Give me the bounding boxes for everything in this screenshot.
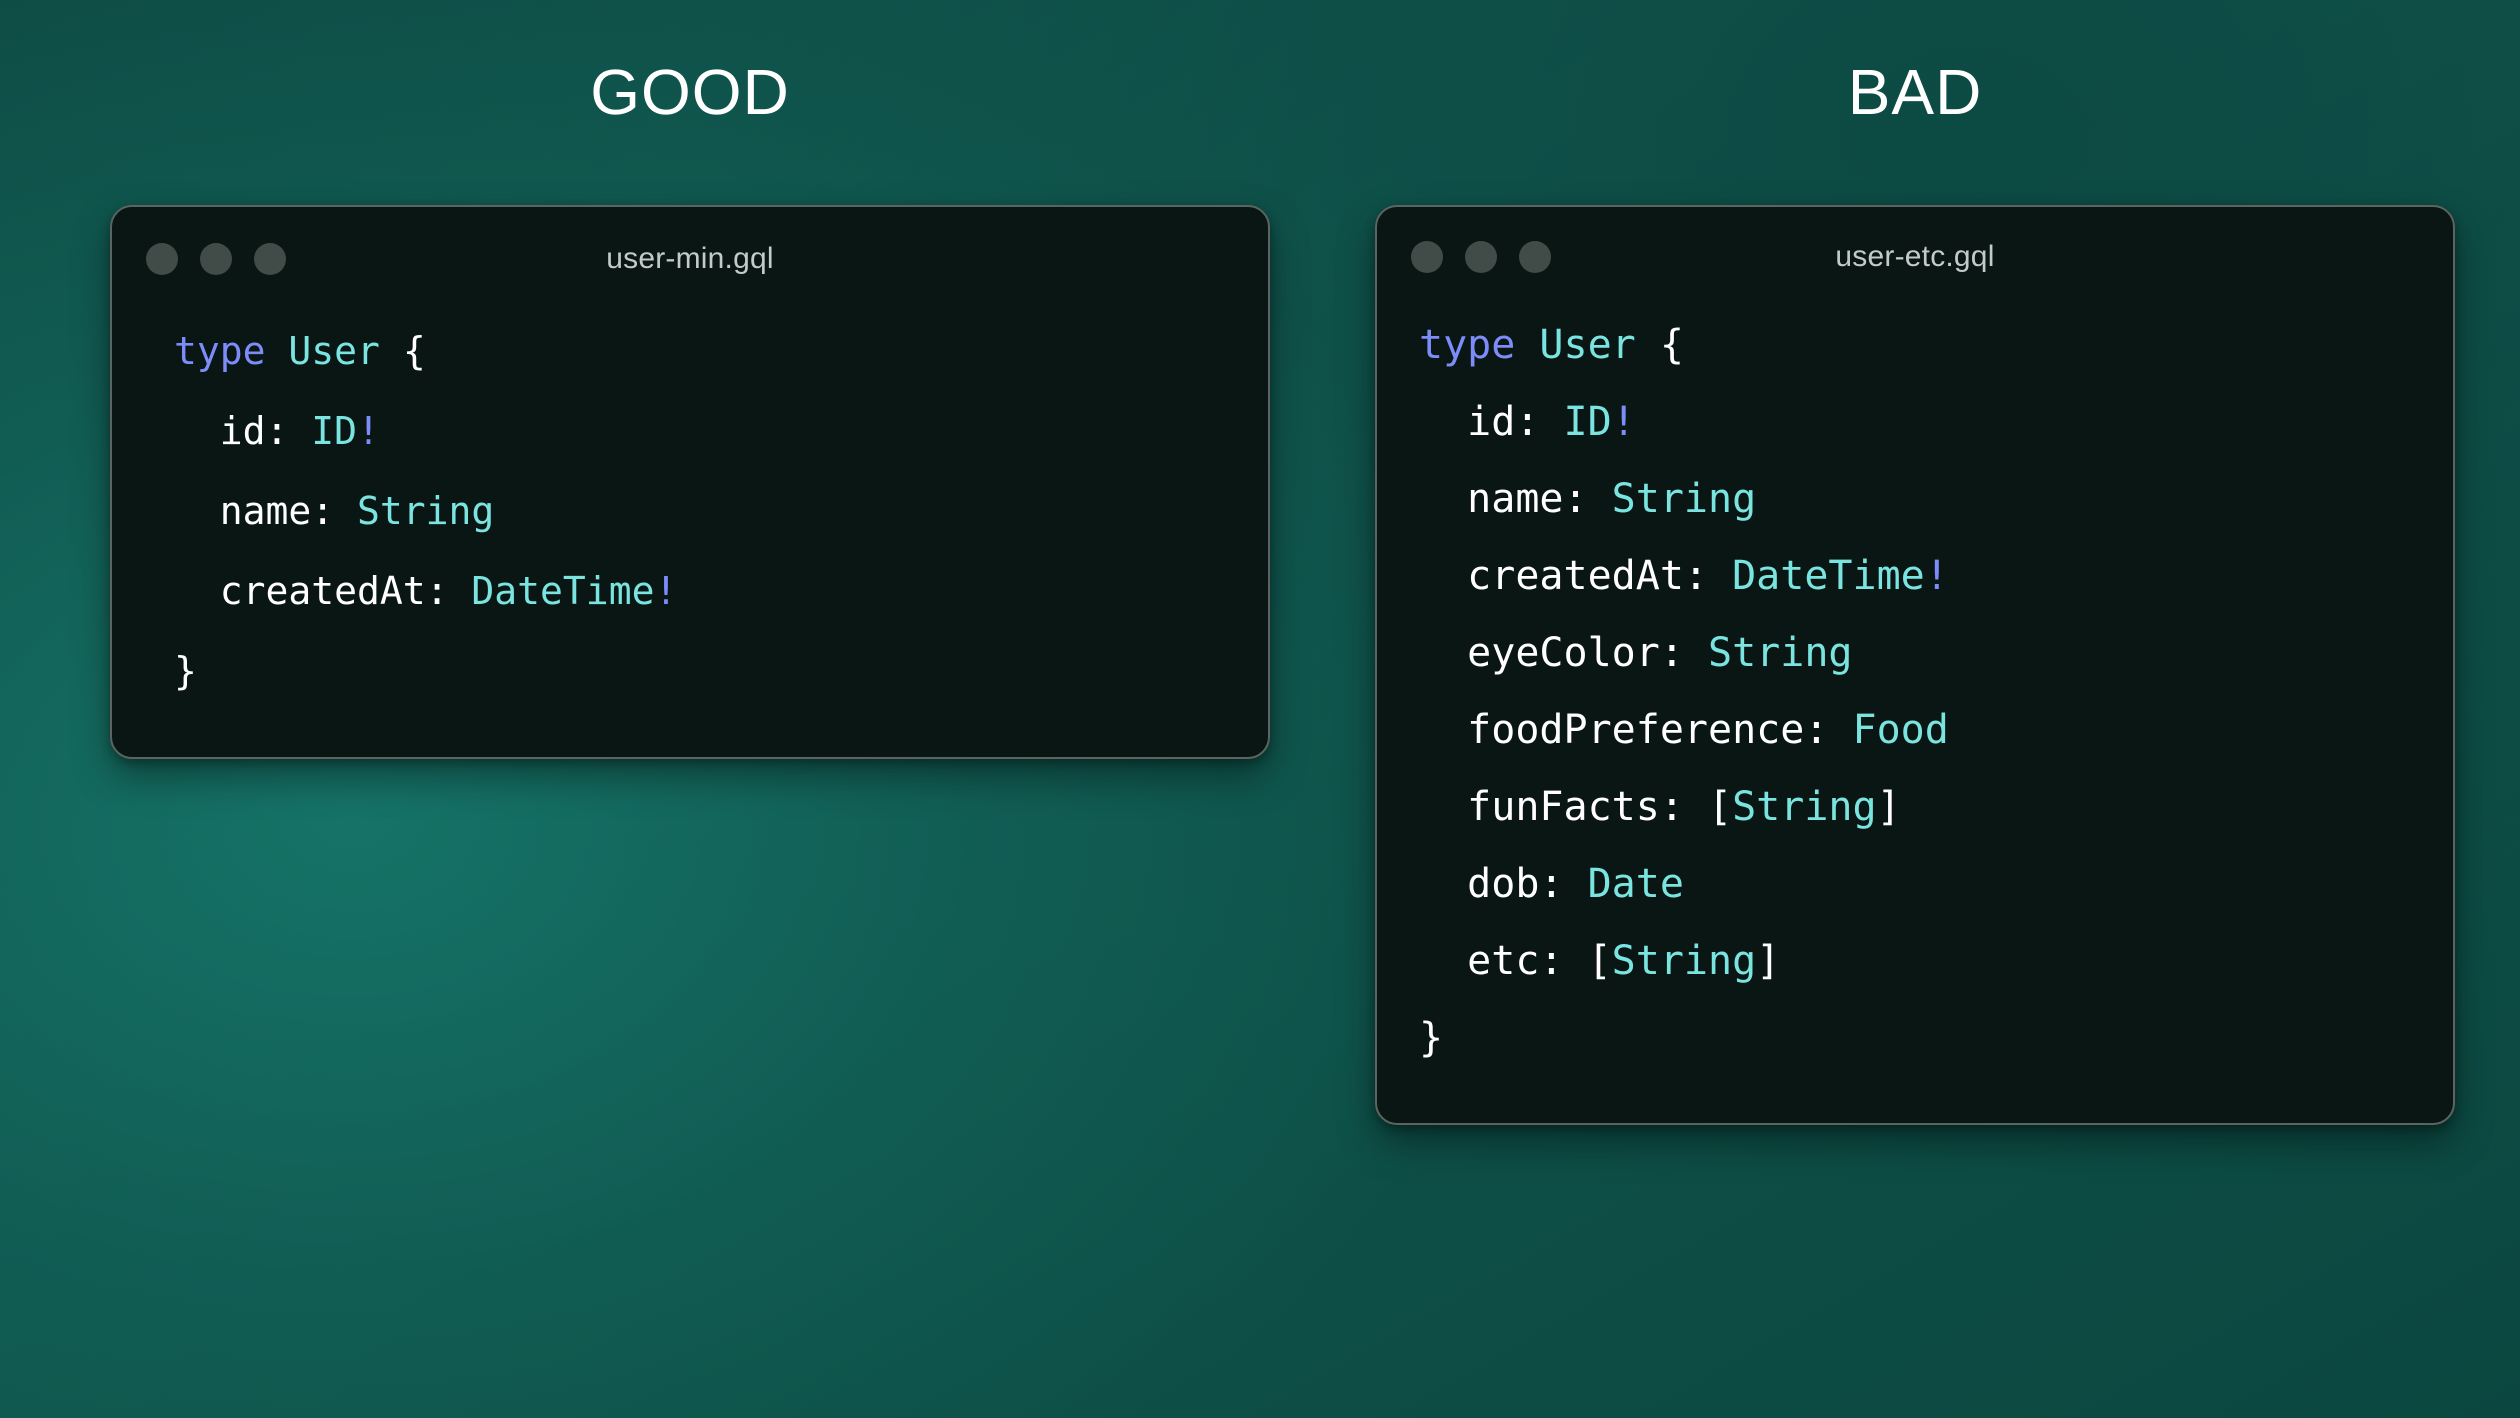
code-token-punct: } bbox=[1419, 1015, 1443, 1061]
heading-good: GOOD bbox=[110, 60, 1270, 124]
code-token-brk: [ bbox=[1588, 938, 1612, 984]
code-line: createdAt: DateTime! bbox=[174, 551, 1268, 631]
code-token-brk: [ bbox=[1708, 784, 1732, 830]
code-token-field: eyeColor: bbox=[1419, 630, 1708, 676]
code-token-punct: { bbox=[403, 329, 426, 373]
code-token-punct: { bbox=[1660, 322, 1684, 368]
code-line: dob: Date bbox=[1419, 846, 2453, 923]
close-dot-icon[interactable] bbox=[146, 243, 178, 275]
code-token-punct: } bbox=[174, 649, 197, 693]
code-line: etc: [String] bbox=[1419, 923, 2453, 1000]
code-token-field: createdAt: bbox=[1419, 553, 1732, 599]
code-token-type: Food bbox=[1852, 707, 1948, 753]
code-line: name: String bbox=[174, 471, 1268, 551]
traffic-lights-good bbox=[146, 243, 286, 275]
code-window-bad: user-etc.gql type User { id: ID! name: S… bbox=[1375, 205, 2455, 1125]
code-token-type: String bbox=[357, 489, 494, 533]
code-token-type: Date bbox=[1588, 861, 1684, 907]
close-dot-icon[interactable] bbox=[1411, 241, 1443, 273]
comparison-stage: GOOD user-min.gql type User { id: ID! na… bbox=[0, 0, 2520, 1418]
code-block-good: type User { id: ID! name: String created… bbox=[112, 311, 1268, 757]
code-line: } bbox=[174, 631, 1268, 711]
code-token-type: ID bbox=[311, 409, 357, 453]
code-token-field: id: bbox=[1419, 399, 1564, 445]
traffic-lights-bad bbox=[1411, 241, 1551, 273]
panel-good: GOOD user-min.gql type User { id: ID! na… bbox=[110, 60, 1270, 759]
code-token-type: String bbox=[1612, 938, 1757, 984]
code-token-type: ID bbox=[1564, 399, 1612, 445]
code-token-field: name: bbox=[1419, 476, 1612, 522]
code-token-bang: ! bbox=[654, 569, 677, 613]
code-token-brk: ] bbox=[1877, 784, 1901, 830]
code-token-type: User bbox=[1539, 322, 1635, 368]
code-token-field: foodPreference: bbox=[1419, 707, 1852, 753]
code-line: id: ID! bbox=[174, 391, 1268, 471]
code-token-type: String bbox=[1708, 630, 1853, 676]
code-token-bang: ! bbox=[357, 409, 380, 453]
code-token-bang: ! bbox=[1612, 399, 1636, 445]
maximize-dot-icon[interactable] bbox=[1519, 241, 1551, 273]
code-token-brk: ] bbox=[1756, 938, 1780, 984]
code-token-type: User bbox=[288, 329, 380, 373]
code-line: type User { bbox=[1419, 307, 2453, 384]
code-token-bang: ! bbox=[1925, 553, 1949, 599]
code-token-type: String bbox=[1612, 476, 1757, 522]
code-token-type: DateTime bbox=[471, 569, 654, 613]
code-token-punct bbox=[1515, 322, 1539, 368]
minimize-dot-icon[interactable] bbox=[1465, 241, 1497, 273]
code-line: funFacts: [String] bbox=[1419, 769, 2453, 846]
window-titlebar-bad: user-etc.gql bbox=[1377, 207, 2453, 307]
code-token-field: name: bbox=[174, 489, 357, 533]
code-token-type: DateTime bbox=[1732, 553, 1925, 599]
code-token-punct bbox=[380, 329, 403, 373]
code-token-field: createdAt: bbox=[174, 569, 471, 613]
code-token-field: funFacts: bbox=[1419, 784, 1708, 830]
code-window-good: user-min.gql type User { id: ID! name: S… bbox=[110, 205, 1270, 759]
code-token-punct bbox=[1636, 322, 1660, 368]
maximize-dot-icon[interactable] bbox=[254, 243, 286, 275]
code-token-kw: type bbox=[1419, 322, 1515, 368]
code-line: foodPreference: Food bbox=[1419, 692, 2453, 769]
heading-bad: BAD bbox=[1375, 60, 2455, 124]
code-token-field: dob: bbox=[1419, 861, 1588, 907]
window-titlebar-good: user-min.gql bbox=[112, 207, 1268, 311]
code-line: eyeColor: String bbox=[1419, 615, 2453, 692]
code-token-field: etc: bbox=[1419, 938, 1588, 984]
code-line: type User { bbox=[174, 311, 1268, 391]
code-token-field: id: bbox=[174, 409, 311, 453]
code-line: id: ID! bbox=[1419, 384, 2453, 461]
minimize-dot-icon[interactable] bbox=[200, 243, 232, 275]
code-block-bad: type User { id: ID! name: String created… bbox=[1377, 307, 2453, 1123]
code-line: name: String bbox=[1419, 461, 2453, 538]
code-token-kw: type bbox=[174, 329, 266, 373]
panel-bad: BAD user-etc.gql type User { id: ID! nam… bbox=[1375, 60, 2455, 1125]
code-token-type: String bbox=[1732, 784, 1877, 830]
code-line: } bbox=[1419, 1000, 2453, 1077]
code-line: createdAt: DateTime! bbox=[1419, 538, 2453, 615]
code-token-punct bbox=[266, 329, 289, 373]
